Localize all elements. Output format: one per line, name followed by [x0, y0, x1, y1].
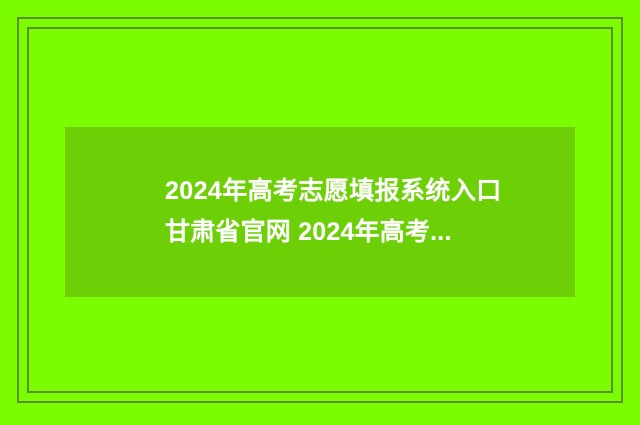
headline-panel: 2024年高考志愿填报系统入口 甘肃省官网 2024年高考... [65, 127, 575, 297]
headline-line-1: 2024年高考志愿填报系统入口 [165, 171, 555, 212]
banner-canvas: 2024年高考志愿填报系统入口 甘肃省官网 2024年高考... [0, 0, 640, 425]
headline-line-2: 甘肃省官网 2024年高考... [165, 212, 555, 253]
